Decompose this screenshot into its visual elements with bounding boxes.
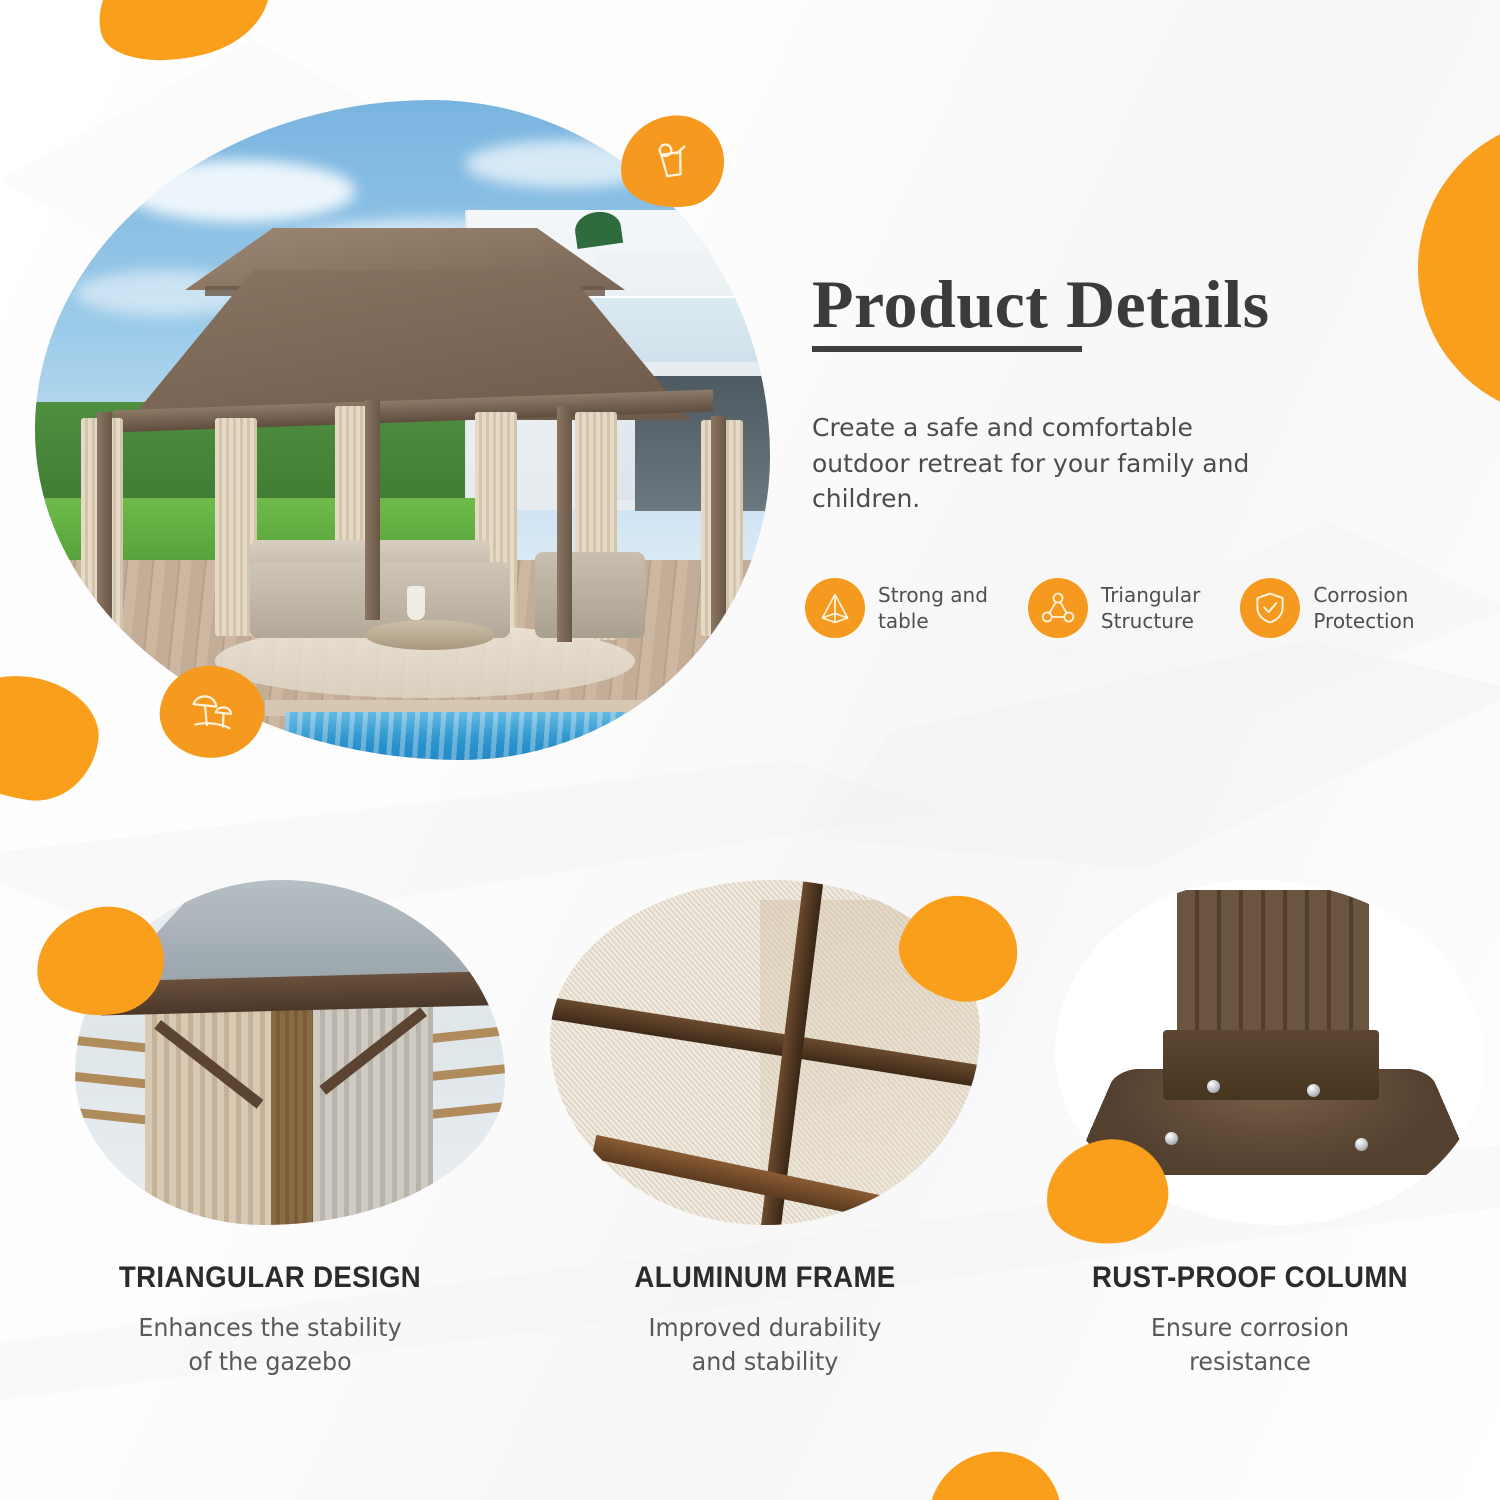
gazebo-curtain (145, 1008, 271, 1225)
feature-item-strong-and-table: Strong and table (805, 578, 988, 638)
feature-list: Strong and table Triangular Structure (805, 578, 1465, 638)
background-facet (820, 640, 1500, 870)
side-table (165, 596, 251, 650)
feature-item-corrosion-protection: Corrosion Protection (1240, 578, 1414, 638)
gazebo-post (365, 400, 380, 620)
card-caption: ALUMINUM FRAME Improved durability and s… (530, 1261, 1000, 1379)
pyramid-icon (805, 578, 865, 638)
title-underline (812, 346, 1082, 352)
gazebo-post (97, 412, 112, 642)
page-title: Product Details (812, 268, 1452, 340)
card-caption: RUST-PROOF COLUMN Ensure corrosion resis… (1015, 1261, 1485, 1379)
feature-item-triangular-structure: Triangular Structure (1028, 578, 1200, 638)
bolt (1207, 1080, 1220, 1093)
feature-label: Corrosion Protection (1313, 582, 1414, 634)
palm-tree (735, 196, 770, 232)
decorative-blob-bottom (923, 1445, 1066, 1500)
bolt (1307, 1084, 1320, 1097)
card-title: RUST-PROOF COLUMN (1034, 1261, 1466, 1295)
beach-umbrella-icon (184, 684, 239, 740)
swimming-pool (285, 712, 770, 760)
gazebo-corner-post (271, 1000, 313, 1225)
cloud (125, 160, 355, 222)
detail-card-rust-proof-column: RUST-PROOF COLUMN Ensure corrosion resis… (1015, 880, 1485, 1379)
bolt (1165, 1132, 1178, 1145)
decorative-blob-top (83, 0, 282, 77)
column-collar (1163, 1030, 1379, 1100)
feature-label: Triangular Structure (1101, 582, 1200, 634)
card-caption: TRIANGULAR DESIGN Enhances the stability… (35, 1261, 505, 1379)
shield-check-icon (1240, 578, 1300, 638)
coffee-table (365, 620, 495, 650)
header-block: Product Details Create a safe and comfor… (812, 268, 1452, 542)
page-subtitle: Create a safe and comfortable outdoor re… (812, 410, 1282, 517)
feature-label: Strong and table (878, 582, 988, 634)
product-details-page: Product Details Create a safe and comfor… (0, 0, 1500, 1500)
card-title: TRIANGULAR DESIGN (54, 1261, 486, 1295)
gazebo-post (557, 406, 572, 642)
card-description: Improved durability and stability (542, 1311, 989, 1379)
triangular-structure-icon (1028, 578, 1088, 638)
card-description: Enhances the stability of the gazebo (47, 1311, 494, 1379)
detail-card-list: TRIANGULAR DESIGN Enhances the stability… (0, 880, 1500, 1440)
cocktail-drink-icon (646, 134, 699, 191)
flower-vase (407, 586, 425, 620)
card-description: Ensure corrosion resistance (1027, 1311, 1474, 1379)
gazebo-post (711, 416, 726, 642)
card-title: ALUMINUM FRAME (549, 1261, 981, 1295)
gazebo-curtain (313, 1006, 433, 1225)
bolt (1355, 1138, 1368, 1151)
armchair (535, 552, 645, 638)
